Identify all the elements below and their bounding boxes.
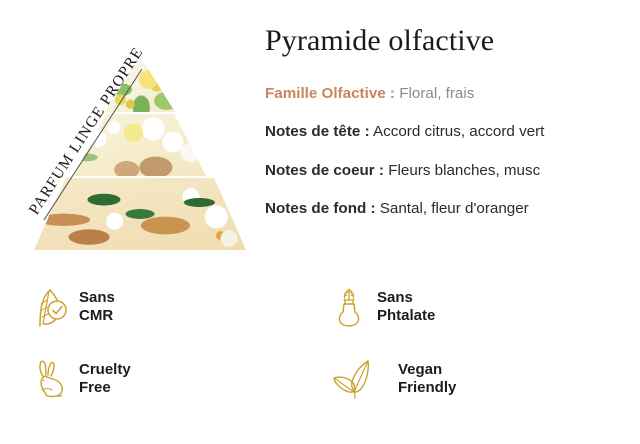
note-value-notes-de-coeur: Fleurs blanches, musc (388, 162, 540, 179)
diffuser-bottle-icon (330, 286, 368, 328)
badge-sans-cmr: Sans CMR (32, 286, 115, 328)
note-row-notes-de-coeur: Notes de coeur : Fleurs blanches, musc (265, 160, 627, 182)
two-leaves-icon (330, 358, 384, 400)
note-value-notes-de-fond: Santal, fleur d'oranger (380, 200, 529, 217)
note-label-notes-de-fond: Notes de fond : (265, 200, 376, 217)
note-label-famille-olfactive: Famille Olfactive : (265, 85, 395, 102)
leaf-check-icon (32, 286, 70, 328)
note-value-famille-olfactive: Floral, frais (399, 85, 474, 102)
note-row-notes-de-tete: Notes de tête : Accord citrus, accord ve… (265, 121, 627, 143)
badge-vegan-friendly: Vegan Friendly (330, 358, 456, 400)
note-label-notes-de-coeur: Notes de coeur : (265, 162, 384, 179)
badge-label-sans-phtalate: Sans Phtalate (377, 289, 435, 326)
note-row-famille-olfactive: Famille Olfactive : Floral, frais (265, 83, 627, 105)
note-value-notes-de-tete: Accord citrus, accord vert (373, 123, 544, 140)
badge-label-cruelty-free: Cruelty Free (79, 361, 131, 398)
note-row-notes-de-fond: Notes de fond : Santal, fleur d'oranger (265, 198, 627, 220)
badge-label-sans-cmr: Sans CMR (79, 289, 115, 326)
badge-sans-phtalate: Sans Phtalate (330, 286, 435, 328)
product-claim-badges: Sans CMR Sans Phtalate Cruelty Free (0, 282, 640, 444)
pyramid-details-panel: Pyramide olfactive Famille Olfactive : F… (265, 24, 627, 220)
olfactive-pyramid-graphic: PARFUM LINGE PROPRE (0, 40, 258, 268)
badge-label-vegan-friendly: Vegan Friendly (398, 361, 456, 398)
page-title: Pyramide olfactive (265, 24, 627, 59)
badge-cruelty-free: Cruelty Free (32, 358, 131, 400)
rabbit-icon (32, 358, 70, 400)
pyramid-tier-bottom-sandalwood (34, 178, 246, 250)
note-label-notes-de-tete: Notes de tête : (265, 123, 370, 140)
